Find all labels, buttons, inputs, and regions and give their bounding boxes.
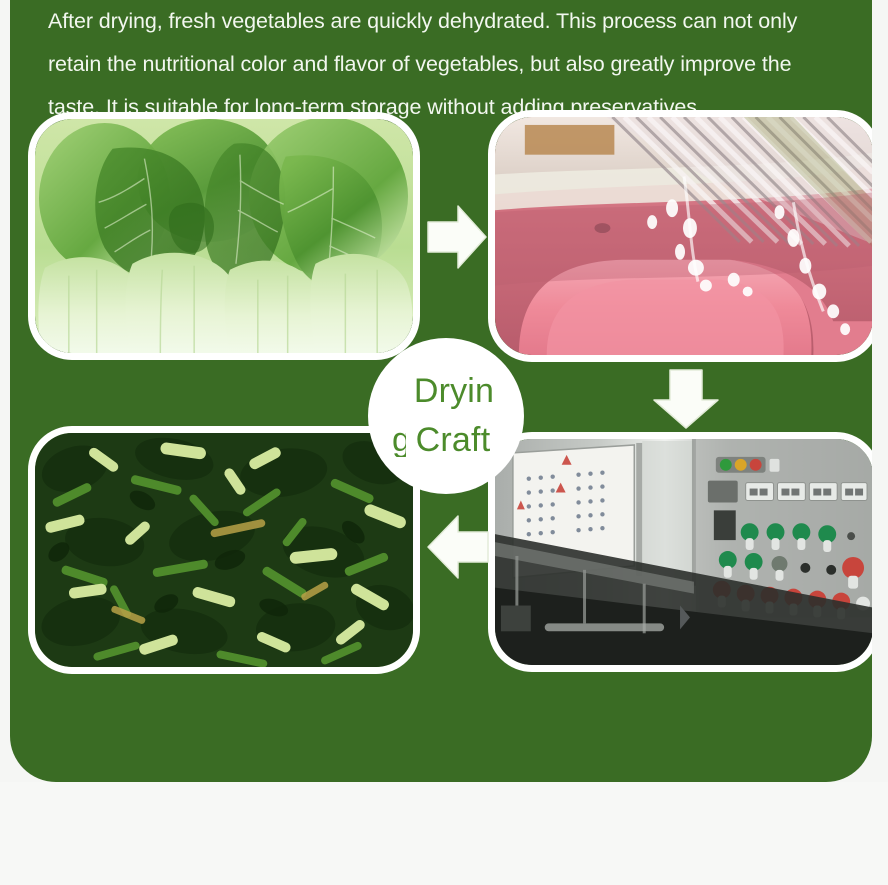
photo-fresh-vegetables-image [35, 119, 413, 353]
photo-drying-machine-image [495, 439, 872, 665]
badge-line-1: Dryin [414, 367, 494, 416]
arrow-left-icon [422, 510, 492, 584]
photo-drying-machine [488, 432, 872, 672]
arrow-down-icon [648, 366, 724, 432]
dried-vegetable-flakes-illustration [35, 433, 413, 667]
green-content-panel: vegetables are processed by quick freezi… [10, 0, 872, 782]
badge-line-2: Craft [416, 416, 491, 465]
arrow-right-icon [424, 200, 490, 274]
drying-machine-illustration [495, 439, 872, 665]
page-root: vegetables are processed by quick freezi… [0, 0, 888, 885]
drying-craft-badge: Dryin Craft g [368, 338, 524, 494]
badge-clipped-glyph: g [392, 423, 406, 457]
bok-choy-illustration [35, 119, 413, 353]
photo-dried-vegetables [28, 426, 420, 674]
photo-washing-tank [488, 110, 872, 362]
photo-dried-vegetables-image [35, 433, 413, 667]
footer-band: Beishang Th edition [0, 782, 888, 885]
photo-washing-tank-image [495, 117, 872, 355]
washing-tank-illustration [495, 117, 872, 355]
photo-fresh-vegetables [28, 112, 420, 360]
